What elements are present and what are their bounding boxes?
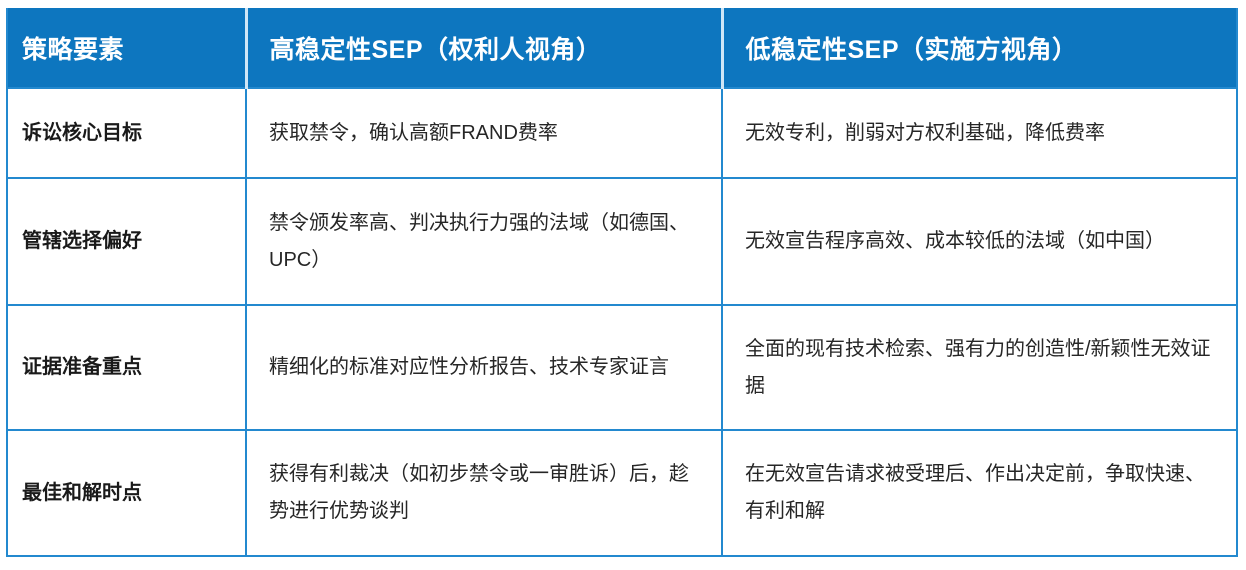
table-row: 最佳和解时点 获得有利裁决（如初步禁令或一审胜诉）后，趁势进行优势谈判 在无效宣… <box>7 430 1237 556</box>
cell-low-stability-optimal-settlement-timing: 在无效宣告请求被受理后、作出决定前，争取快速、有利和解 <box>722 430 1237 556</box>
column-header-high-stability-sep: 高稳定性SEP（权利人视角） <box>246 8 722 88</box>
table-header-row: 策略要素 高稳定性SEP（权利人视角） 低稳定性SEP（实施方视角） <box>7 8 1237 88</box>
table-row: 诉讼核心目标 获取禁令，确认高额FRAND费率 无效专利，削弱对方权利基础，降低… <box>7 88 1237 178</box>
column-header-low-stability-sep: 低稳定性SEP（实施方视角） <box>722 8 1237 88</box>
cell-high-stability-optimal-settlement-timing: 获得有利裁决（如初步禁令或一审胜诉）后，趁势进行优势谈判 <box>246 430 722 556</box>
column-header-strategy-element: 策略要素 <box>7 8 246 88</box>
cell-low-stability-jurisdiction-preference: 无效宣告程序高效、成本较低的法域（如中国） <box>722 178 1237 305</box>
table-row: 证据准备重点 精细化的标准对应性分析报告、技术专家证言 全面的现有技术检索、强有… <box>7 305 1237 430</box>
table-row: 管辖选择偏好 禁令颁发率高、判决执行力强的法域（如德国、UPC） 无效宣告程序高… <box>7 178 1237 305</box>
row-label-evidence-preparation-focus: 证据准备重点 <box>7 305 246 430</box>
row-label-litigation-core-goal: 诉讼核心目标 <box>7 88 246 178</box>
row-label-optimal-settlement-timing: 最佳和解时点 <box>7 430 246 556</box>
cell-low-stability-litigation-core-goal: 无效专利，削弱对方权利基础，降低费率 <box>722 88 1237 178</box>
cell-high-stability-jurisdiction-preference: 禁令颁发率高、判决执行力强的法域（如德国、UPC） <box>246 178 722 305</box>
row-label-jurisdiction-preference: 管辖选择偏好 <box>7 178 246 305</box>
cell-high-stability-litigation-core-goal: 获取禁令，确认高额FRAND费率 <box>246 88 722 178</box>
sep-strategy-comparison-table: 策略要素 高稳定性SEP（权利人视角） 低稳定性SEP（实施方视角） 诉讼核心目… <box>6 8 1238 557</box>
comparison-table-container: 策略要素 高稳定性SEP（权利人视角） 低稳定性SEP（实施方视角） 诉讼核心目… <box>6 8 1236 556</box>
cell-high-stability-evidence-preparation-focus: 精细化的标准对应性分析报告、技术专家证言 <box>246 305 722 430</box>
table-body: 诉讼核心目标 获取禁令，确认高额FRAND费率 无效专利，削弱对方权利基础，降低… <box>7 88 1237 556</box>
table-header: 策略要素 高稳定性SEP（权利人视角） 低稳定性SEP（实施方视角） <box>7 8 1237 88</box>
cell-low-stability-evidence-preparation-focus: 全面的现有技术检索、强有力的创造性/新颖性无效证据 <box>722 305 1237 430</box>
